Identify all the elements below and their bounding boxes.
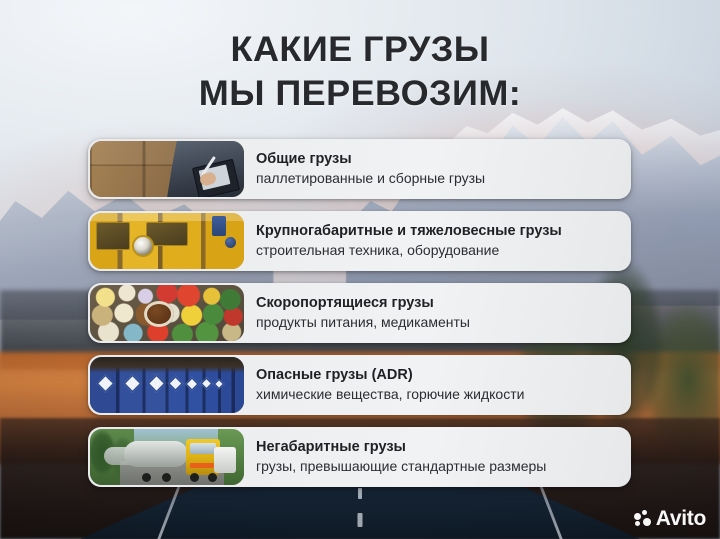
truck-wheel [142, 473, 151, 482]
cargo-card-text: Скоропортящиеся грузы продукты питания, … [244, 294, 480, 332]
truck-wheel [162, 473, 171, 482]
cargo-card-title: Скоропортящиеся грузы [256, 294, 470, 312]
cargo-card-general[interactable]: Общие грузы паллетированные и сборные гр… [88, 139, 631, 199]
page-title-line-1: КАКИЕ ГРУЗЫ [0, 28, 720, 72]
headlight-icon [132, 235, 154, 257]
cargo-card-text: Негабаритные грузы грузы, превышающие ст… [244, 438, 556, 476]
cargo-card-subtitle: продукты питания, медикаменты [256, 313, 470, 332]
blue-chemical-barrels-photo [90, 357, 244, 413]
machine-knob [225, 237, 236, 248]
cargo-card-text: Опасные грузы (ADR) химические вещества,… [244, 366, 534, 404]
cargo-tank [124, 441, 188, 467]
cargo-card-dangerous-adr[interactable]: Опасные грузы (ADR) химические вещества,… [88, 355, 631, 415]
cargo-card-oversize-heavy[interactable]: Крупногабаритные и тяжеловесные грузы ст… [88, 211, 631, 271]
machine-window [96, 222, 130, 250]
cargo-card-title: Негабаритные грузы [256, 438, 546, 456]
cargo-card-title: Крупногабаритные и тяжеловесные грузы [256, 222, 562, 240]
cargo-card-subtitle: химические вещества, горючие жидкости [256, 385, 524, 404]
cargo-card-subtitle: паллетированные и сборные грузы [256, 169, 485, 188]
cargo-card-subtitle: грузы, превышающие стандартные размеры [256, 457, 546, 476]
truck-wheel [190, 473, 199, 482]
cargo-card-title: Общие грузы [256, 150, 485, 168]
cargo-thumbnail-oversize-heavy [90, 213, 244, 269]
cardboard-boxes-inspector-photo [90, 141, 244, 197]
cargo-thumbnail-perishable [90, 285, 244, 341]
hazard-diamond-icon [213, 378, 224, 389]
machine-blue-part [212, 216, 226, 236]
fruits-vegetables-food-photo [90, 285, 244, 341]
cargo-thumbnail-dangerous-adr [90, 357, 244, 413]
cargo-thumbnail-general [90, 141, 244, 197]
cargo-card-out-of-gauge[interactable]: Негабаритные грузы грузы, превышающие ст… [88, 427, 631, 487]
avito-dots-logo [634, 510, 651, 527]
page-title: КАКИЕ ГРУЗЫ МЫ ПЕРЕВОЗИМ: [0, 28, 720, 116]
avito-watermark: Avito [634, 508, 706, 529]
avito-wordmark: Avito [656, 508, 706, 529]
cargo-thumbnail-out-of-gauge [90, 429, 244, 485]
cargo-card-perishable[interactable]: Скоропортящиеся грузы продукты питания, … [88, 283, 631, 343]
truck-cab-white [214, 447, 236, 473]
cargo-card-text: Крупногабаритные и тяжеловесные грузы ст… [244, 222, 572, 260]
hazard-diamond-icon [168, 376, 184, 392]
cargo-card-title: Опасные грузы (ADR) [256, 366, 524, 384]
page-title-line-2: МЫ ПЕРЕВОЗИМ: [0, 72, 720, 116]
hazard-diamond-icon [123, 374, 141, 392]
hazard-diamond-icon [200, 377, 213, 390]
cargo-type-list: Общие грузы паллетированные и сборные гр… [88, 139, 631, 487]
cargo-card-text: Общие грузы паллетированные и сборные гр… [244, 150, 495, 188]
cargo-card-subtitle: строительная техника, оборудование [256, 241, 562, 260]
hazard-diamond-icon [147, 374, 165, 392]
yellow-construction-machine-photo [90, 213, 244, 269]
oversized-cargo-truck-photo [90, 429, 244, 485]
truck-wheel [208, 473, 217, 482]
hazard-diamond-icon [96, 374, 114, 392]
poster-canvas: КАКИЕ ГРУЗЫ МЫ ПЕРЕВОЗИМ: Общие грузы па… [0, 0, 720, 539]
hazard-diamond-icon [185, 377, 199, 391]
